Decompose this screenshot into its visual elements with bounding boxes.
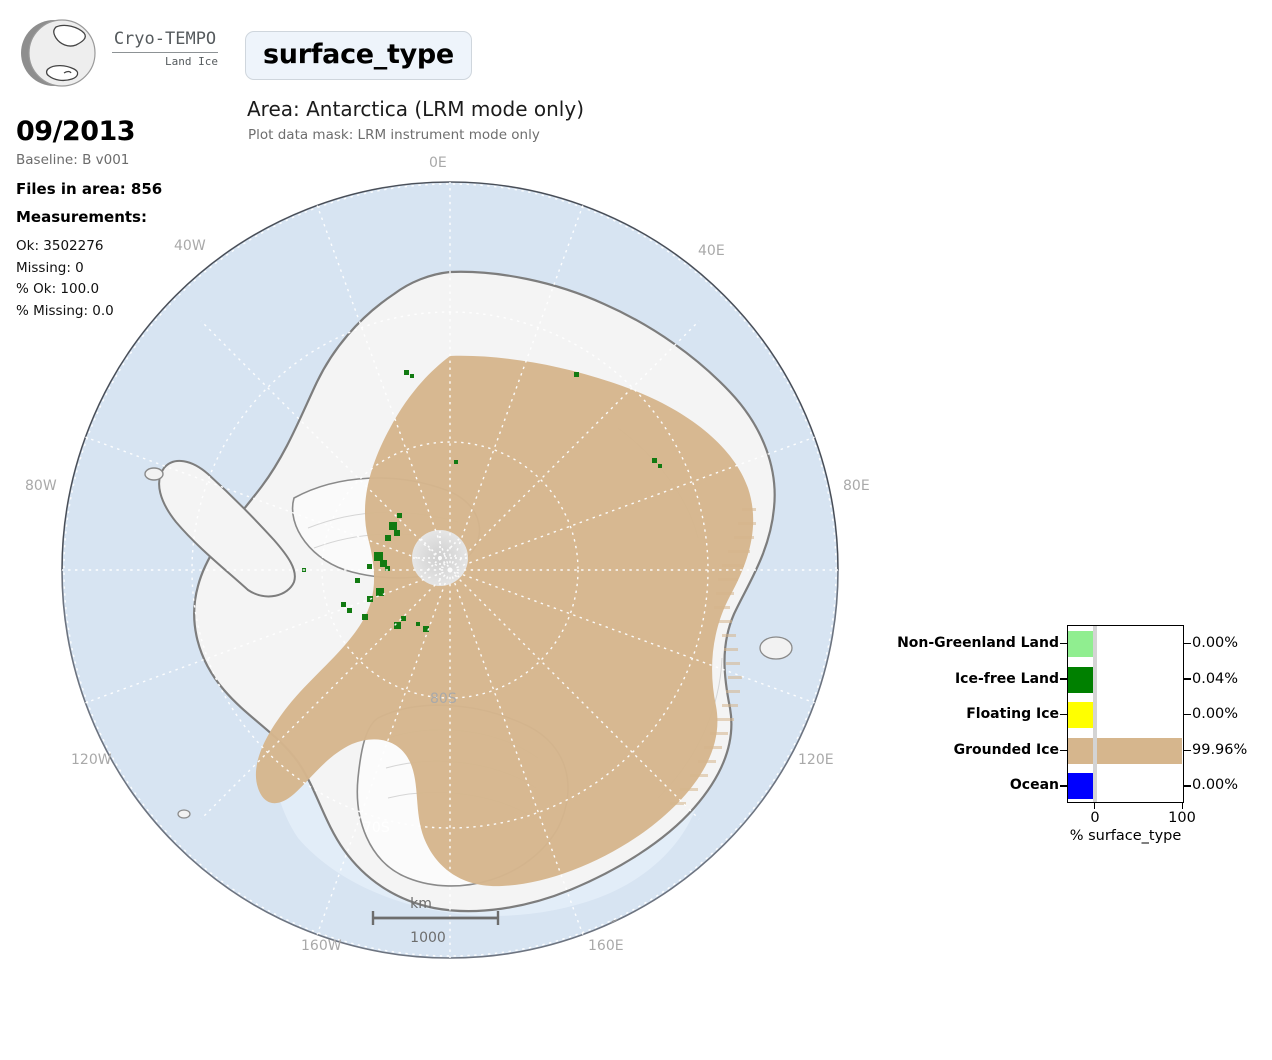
lon-label-40e: 40E xyxy=(698,243,725,259)
bar-row-non-greenland-land[interactable]: Non-Greenland Land 0.00% xyxy=(1068,626,1183,662)
bar-value-label: 0.00% xyxy=(1192,697,1238,733)
bar-category-label: Ice-free Land xyxy=(955,662,1059,698)
cryo-tempo-logo: Cryo-TEMPO Land Ice xyxy=(18,13,208,93)
lon-label-160w: 160W xyxy=(301,938,342,954)
map-canvas: 80S 70S km 1000 xyxy=(58,178,842,962)
bar-chart-plot-area: Non-Greenland Land 0.00% Ice-free Land 0… xyxy=(1067,625,1184,803)
bar-category-label: Non-Greenland Land xyxy=(897,626,1059,662)
bar-swatch xyxy=(1068,773,1093,799)
x-tick-label-0: 0 xyxy=(1090,810,1099,826)
x-tick-0 xyxy=(1094,802,1095,809)
y-tick xyxy=(1060,714,1067,715)
variable-badge[interactable]: surface_type xyxy=(245,31,472,80)
x-tick-label-100: 100 xyxy=(1168,810,1196,826)
bar-fill xyxy=(1097,738,1182,764)
y-tick xyxy=(1060,678,1067,679)
polar-map[interactable]: 80S 70S km 1000 0E 40E 80E 120E 160E 160… xyxy=(58,178,842,962)
value-tick xyxy=(1184,785,1191,786)
bar-swatch xyxy=(1068,667,1093,693)
y-tick xyxy=(1060,785,1067,786)
x-tick-100 xyxy=(1182,802,1183,809)
lat-label-80s: 80S xyxy=(430,691,457,707)
bar-category-label: Ocean xyxy=(1010,768,1059,804)
lon-label-120w: 120W xyxy=(71,752,112,768)
plot-mask-subtitle: Plot data mask: LRM instrument mode only xyxy=(248,127,540,143)
y-tick xyxy=(1060,750,1067,751)
bar-swatch xyxy=(1068,702,1093,728)
bar-swatch xyxy=(1068,738,1093,764)
surface-type-bar-chart[interactable]: Non-Greenland Land 0.00% Ice-free Land 0… xyxy=(890,610,1260,850)
lon-label-40w: 40W xyxy=(174,238,206,254)
logo-wordmark: Cryo-TEMPO Land Ice xyxy=(110,29,220,69)
globe-icon xyxy=(18,13,100,93)
value-tick xyxy=(1184,714,1191,715)
value-tick xyxy=(1184,643,1191,644)
logo-divider xyxy=(112,52,218,53)
bar-category-label: Floating Ice xyxy=(966,697,1059,733)
bar-row-ice-free-land[interactable]: Ice-free Land 0.04% xyxy=(1068,662,1183,698)
bar-value-label: 0.04% xyxy=(1192,662,1238,698)
lon-label-0e: 0E xyxy=(429,155,447,171)
bar-swatch xyxy=(1068,631,1093,657)
lon-label-80e: 80E xyxy=(843,478,870,494)
date-label: 09/2013 xyxy=(16,116,135,147)
bar-value-label: 0.00% xyxy=(1192,768,1238,804)
value-tick xyxy=(1184,678,1191,679)
value-tick xyxy=(1184,750,1191,751)
lat-label-70s: 70S xyxy=(363,820,390,836)
lon-label-80w: 80W xyxy=(25,478,57,494)
bar-value-label: 99.96% xyxy=(1192,733,1247,769)
bar-category-label: Grounded Ice xyxy=(954,733,1059,769)
logo-title: Cryo-TEMPO xyxy=(110,29,220,49)
bar-row-ocean[interactable]: Ocean 0.00% xyxy=(1068,768,1183,804)
y-tick xyxy=(1060,643,1067,644)
bar-row-floating-ice[interactable]: Floating Ice 0.00% xyxy=(1068,697,1183,733)
x-axis-title: % surface_type xyxy=(1067,828,1184,844)
lon-label-160e: 160E xyxy=(588,938,624,954)
scale-bar-unit: km xyxy=(410,896,432,912)
lon-label-120e: 120E xyxy=(798,752,834,768)
scale-bar-value: 1000 xyxy=(410,930,446,946)
baseline-label: Baseline: B v001 xyxy=(16,152,129,168)
area-title: Area: Antarctica (LRM mode only) xyxy=(247,97,584,121)
logo-subtitle: Land Ice xyxy=(110,55,220,69)
bar-row-grounded-ice[interactable]: Grounded Ice 99.96% xyxy=(1068,733,1183,769)
bar-value-label: 0.00% xyxy=(1192,626,1238,662)
